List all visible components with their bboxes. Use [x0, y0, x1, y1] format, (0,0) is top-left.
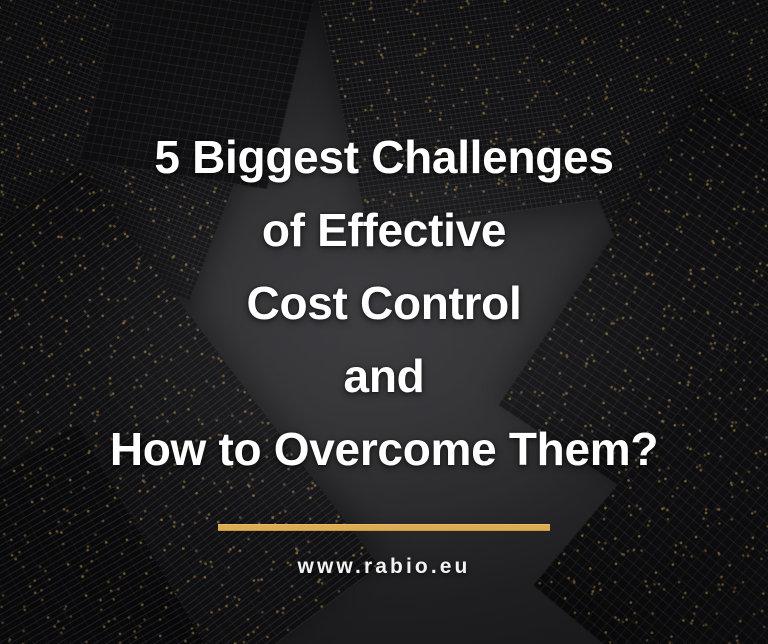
website-url: www.rabio.eu	[298, 555, 471, 579]
accent-divider	[218, 524, 550, 531]
blog-cover-image: 5 Biggest Challenges of Effective Cost C…	[0, 0, 768, 644]
title-line-2: of Effective	[0, 194, 768, 267]
title-line-1: 5 Biggest Challenges	[0, 121, 768, 194]
title-line-4: and	[0, 340, 768, 413]
title-line-5: How to Overcome Them?	[0, 413, 768, 486]
cover-content: 5 Biggest Challenges of Effective Cost C…	[0, 0, 768, 644]
page-title: 5 Biggest Challenges of Effective Cost C…	[0, 0, 768, 486]
title-line-3: Cost Control	[0, 267, 768, 340]
